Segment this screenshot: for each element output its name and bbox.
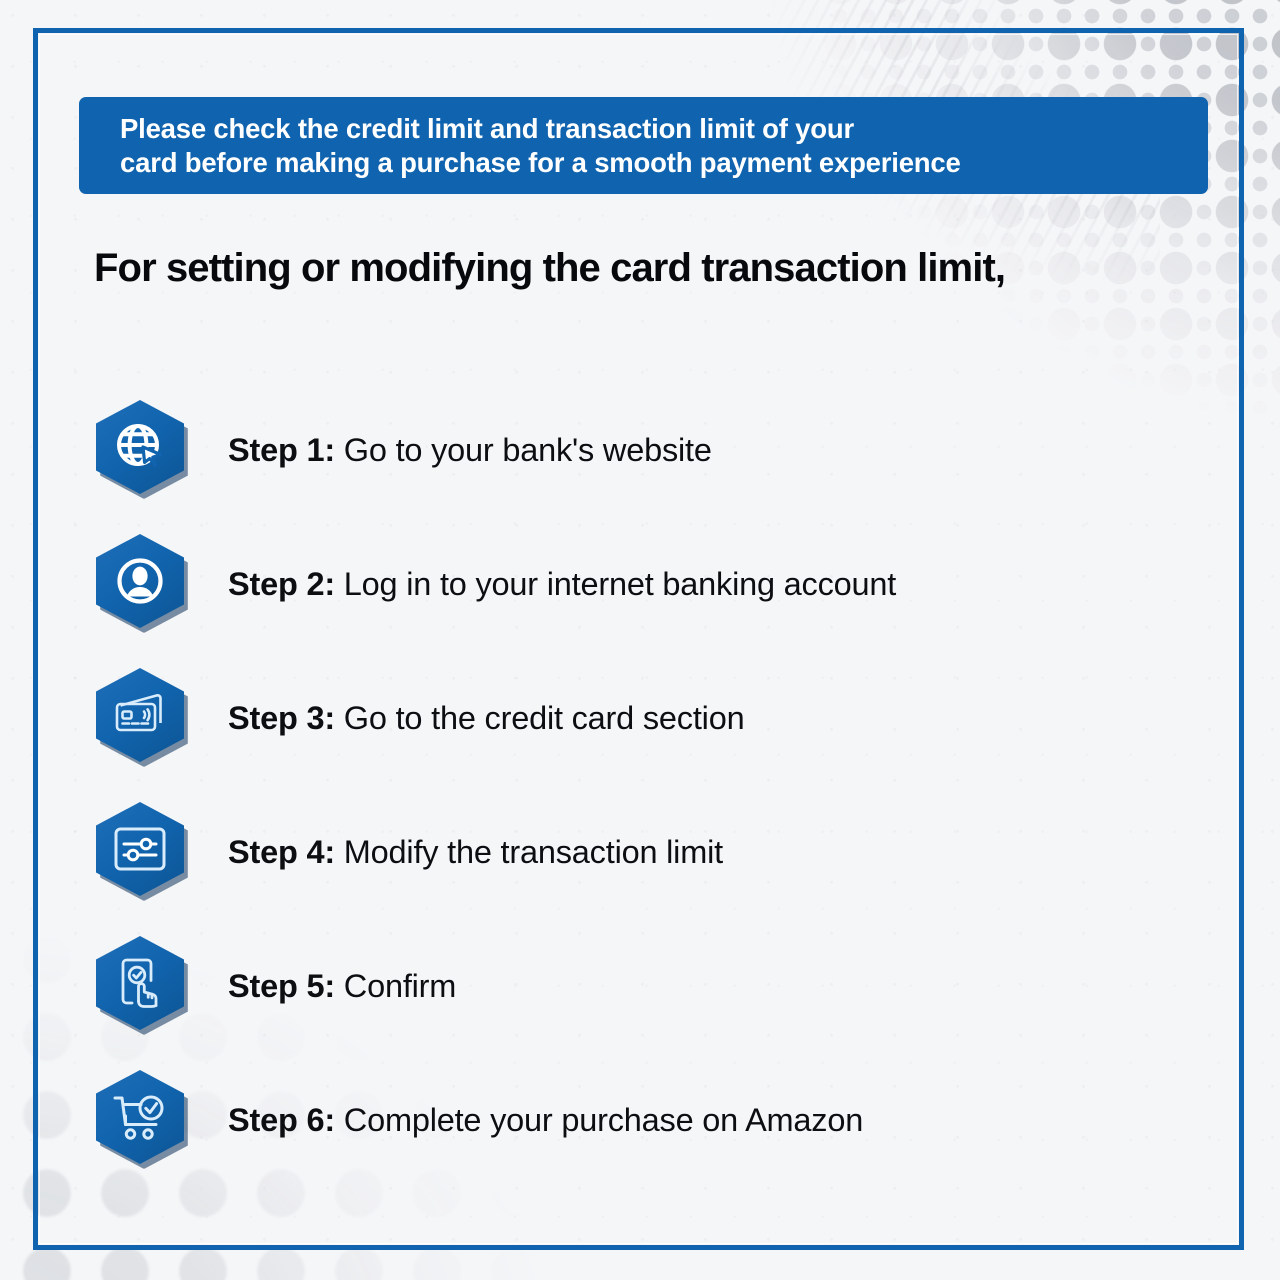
credit-cards-icon [112, 690, 168, 740]
step-icon-badge [96, 802, 190, 902]
step-icon-badge [96, 1070, 190, 1170]
step-description: Complete your purchase on Amazon [344, 1102, 863, 1138]
step-description: Log in to your internet banking account [344, 566, 896, 602]
step-label: Step 2: [228, 566, 344, 602]
step-text: Step 6: Complete your purchase on Amazon [228, 1102, 863, 1139]
list-item: Step 2: Log in to your internet banking … [96, 517, 1156, 651]
step-icon-badge [96, 936, 190, 1036]
notice-banner: Please check the credit limit and transa… [79, 97, 1208, 194]
list-item: Step 3: Go to the credit card section [96, 651, 1156, 785]
step-icon-badge [96, 668, 190, 768]
step-label: Step 5: [228, 968, 344, 1004]
cart-check-icon [111, 1092, 169, 1142]
step-text: Step 4: Modify the transaction limit [228, 834, 723, 871]
step-label: Step 1: [228, 432, 344, 468]
page-title: For setting or modifying the card transa… [94, 246, 1005, 291]
infographic-canvas: Please check the credit limit and transa… [0, 0, 1280, 1280]
step-label: Step 3: [228, 700, 344, 736]
notice-banner-text: Please check the credit limit and transa… [79, 112, 979, 179]
step-description: Modify the transaction limit [344, 834, 723, 870]
step-text: Step 2: Log in to your internet banking … [228, 566, 896, 603]
step-text: Step 5: Confirm [228, 968, 456, 1005]
step-label: Step 6: [228, 1102, 344, 1138]
step-label: Step 4: [228, 834, 344, 870]
step-description: Go to your bank's website [344, 432, 712, 468]
step-icon-badge [96, 534, 190, 634]
globe-cursor-icon [113, 420, 167, 474]
list-item: Step 4: Modify the transaction limit [96, 785, 1156, 919]
steps-list: Step 1: Go to your bank's website [96, 383, 1156, 1187]
list-item: Step 6: Complete your purchase on Amazon [96, 1053, 1156, 1187]
step-text: Step 3: Go to the credit card section [228, 700, 744, 737]
sliders-settings-icon [112, 825, 168, 873]
step-description: Confirm [344, 968, 456, 1004]
phone-tap-confirm-icon [115, 955, 165, 1011]
step-text: Step 1: Go to your bank's website [228, 432, 712, 469]
step-icon-badge [96, 400, 190, 500]
user-account-icon [114, 555, 166, 607]
list-item: Step 1: Go to your bank's website [96, 383, 1156, 517]
step-description: Go to the credit card section [344, 700, 745, 736]
list-item: Step 5: Confirm [96, 919, 1156, 1053]
